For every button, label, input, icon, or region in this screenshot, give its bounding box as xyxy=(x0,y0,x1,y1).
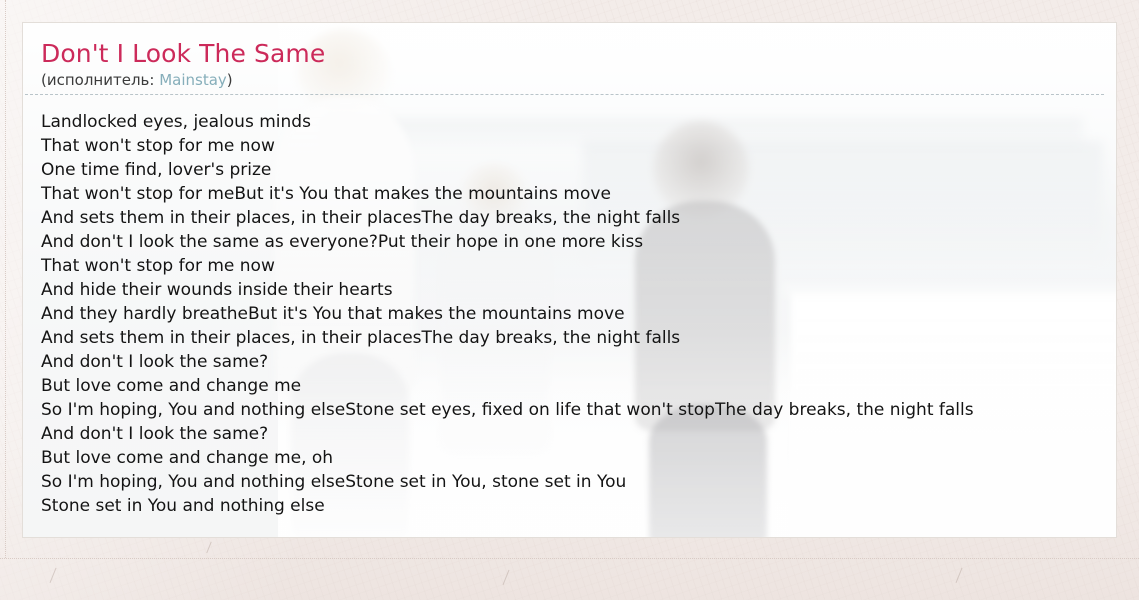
lyric-line: And sets them in their places, in their … xyxy=(41,206,1116,230)
header-divider xyxy=(25,94,1104,95)
artist-suffix-label: ) xyxy=(227,71,233,89)
lyrics-content: Don't I Look The Same (исполнитель: Main… xyxy=(23,23,1116,518)
lyrics-card: Don't I Look The Same (исполнитель: Main… xyxy=(22,22,1117,538)
artist-line: (исполнитель: Mainstay) xyxy=(41,70,1116,94)
background-scratch-mark xyxy=(206,542,224,559)
lyric-line: But love come and change me, oh xyxy=(41,446,1116,470)
lyric-line: Landlocked eyes, jealous minds xyxy=(41,110,1116,134)
lyric-line: One time find, lover's prize xyxy=(41,158,1116,182)
artist-link[interactable]: Mainstay xyxy=(159,71,227,89)
lyric-line: That won't stop for me now xyxy=(41,254,1116,278)
lyric-line: So I'm hoping, You and nothing elseStone… xyxy=(41,470,1116,494)
background-scratch-mark xyxy=(503,570,523,590)
background-horizontal-dotted-rule xyxy=(0,558,1139,559)
lyrics-body: Landlocked eyes, jealous mindsThat won't… xyxy=(41,110,1116,518)
lyric-line: Stone set in You and nothing else xyxy=(41,494,1116,518)
background-vertical-dotted-rule xyxy=(5,0,6,558)
lyric-line: And don't I look the same as everyone?Pu… xyxy=(41,230,1116,254)
background-scratch-mark xyxy=(50,568,70,588)
lyric-line: And hide their wounds inside their heart… xyxy=(41,278,1116,302)
lyric-line: And they hardly breatheBut it's You that… xyxy=(41,302,1116,326)
lyric-line: And don't I look the same? xyxy=(41,422,1116,446)
song-title: Don't I Look The Same xyxy=(41,39,1116,69)
lyric-line: And don't I look the same? xyxy=(41,350,1116,374)
lyric-line: That won't stop for me now xyxy=(41,134,1116,158)
artist-prefix-label: (исполнитель: xyxy=(41,71,154,89)
lyric-line: So I'm hoping, You and nothing elseStone… xyxy=(41,398,1116,422)
lyric-line: And sets them in their places, in their … xyxy=(41,326,1116,350)
lyric-line: But love come and change me xyxy=(41,374,1116,398)
lyric-line: That won't stop for meBut it's You that … xyxy=(41,182,1116,206)
background-scratch-mark xyxy=(956,568,976,588)
